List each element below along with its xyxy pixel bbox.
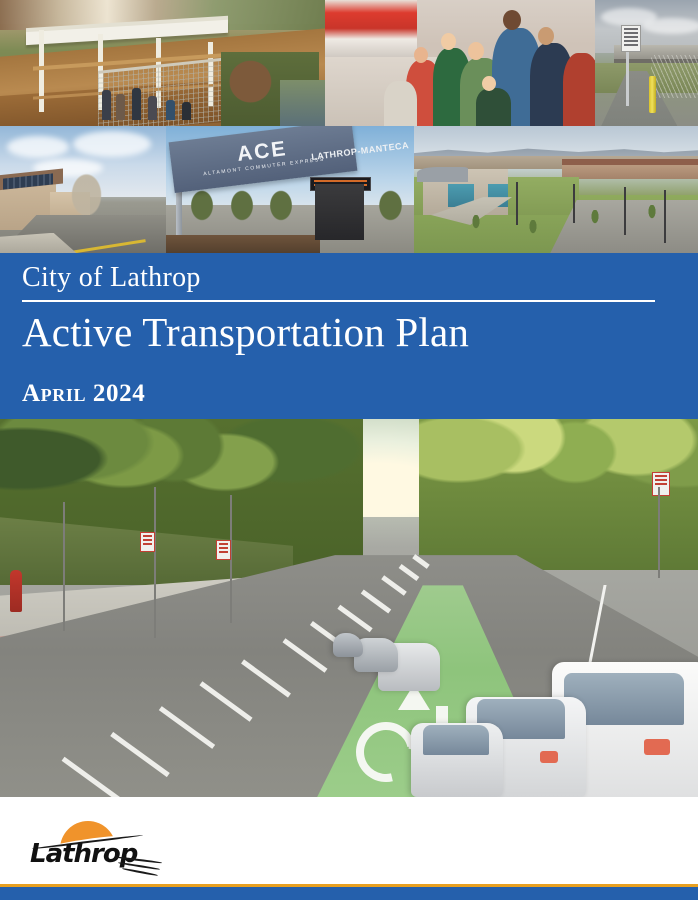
photo-collage: ACE ALTAMONT COMMUTER EXPRESS LATHROP-MA… <box>0 0 698 253</box>
person <box>148 96 157 120</box>
shopping-center-roof <box>562 159 698 165</box>
parking-restriction-sign <box>216 540 231 560</box>
dirt-landscape-strip <box>166 235 320 253</box>
boardwalk-pavilion-photo <box>0 0 325 126</box>
footer-blue-bar <box>0 887 698 900</box>
utility-pole <box>63 502 65 631</box>
title-divider-rule <box>22 300 655 302</box>
young-tree <box>471 215 481 231</box>
people-group <box>98 66 202 120</box>
parade-crowd-photo <box>325 0 595 126</box>
regulatory-sign <box>621 25 641 52</box>
residential-street-photo <box>0 126 166 253</box>
collage-row-top <box>0 0 698 126</box>
building-rotunda <box>417 167 468 182</box>
tree <box>374 184 406 222</box>
spectator <box>384 81 416 126</box>
young-tree <box>528 220 538 236</box>
person <box>116 94 125 120</box>
bare-tree <box>63 162 109 218</box>
community-center-photo <box>414 126 698 253</box>
parking-restriction-sign <box>652 472 670 496</box>
document-title: Active Transportation Plan <box>22 308 469 356</box>
spectator <box>563 53 595 126</box>
light-pole <box>516 182 518 225</box>
car-taillight <box>644 739 670 755</box>
light-pole <box>573 184 575 222</box>
city-of-lathrop-logo: Lathrop <box>30 819 165 875</box>
young-tree <box>647 205 657 221</box>
parking-restriction-sign <box>140 532 155 552</box>
child-head <box>482 76 496 91</box>
yellow-bollard <box>649 76 656 114</box>
young-tree <box>590 210 600 226</box>
spectator-head <box>414 47 428 63</box>
trail-bollard-photo <box>595 0 698 126</box>
light-pole <box>664 190 666 243</box>
cover-page: ACE ALTAMONT COMMUTER EXPRESS LATHROP-MA… <box>0 0 698 900</box>
organization-name: City of Lathrop <box>22 262 201 294</box>
document-date: April 2024 <box>22 380 145 408</box>
tree <box>265 184 297 222</box>
child-spectator <box>476 88 511 126</box>
car-taillight <box>540 751 558 763</box>
person <box>102 90 111 120</box>
water-channel <box>280 80 326 126</box>
chain-link-fence <box>651 55 698 98</box>
title-band: City of Lathrop Active Transportation Pl… <box>0 253 698 419</box>
collage-row-middle: ACE ALTAMONT COMMUTER EXPRESS LATHROP-MA… <box>0 126 698 253</box>
cloud <box>642 18 698 34</box>
protected-bike-lane-photo <box>0 419 698 797</box>
utility-pole <box>154 487 156 638</box>
cloud <box>7 136 69 158</box>
ace-station-photo: ACE ALTAMONT COMMUTER EXPRESS LATHROP-MA… <box>166 126 414 253</box>
tree <box>226 184 258 222</box>
person <box>182 102 191 120</box>
light-pole <box>624 187 626 235</box>
sign-post <box>658 487 660 578</box>
person <box>166 100 175 120</box>
person <box>132 88 141 120</box>
fire-hydrant <box>10 570 22 612</box>
car-window <box>423 725 489 755</box>
platform-shelter <box>315 184 365 240</box>
cloud <box>73 131 151 157</box>
